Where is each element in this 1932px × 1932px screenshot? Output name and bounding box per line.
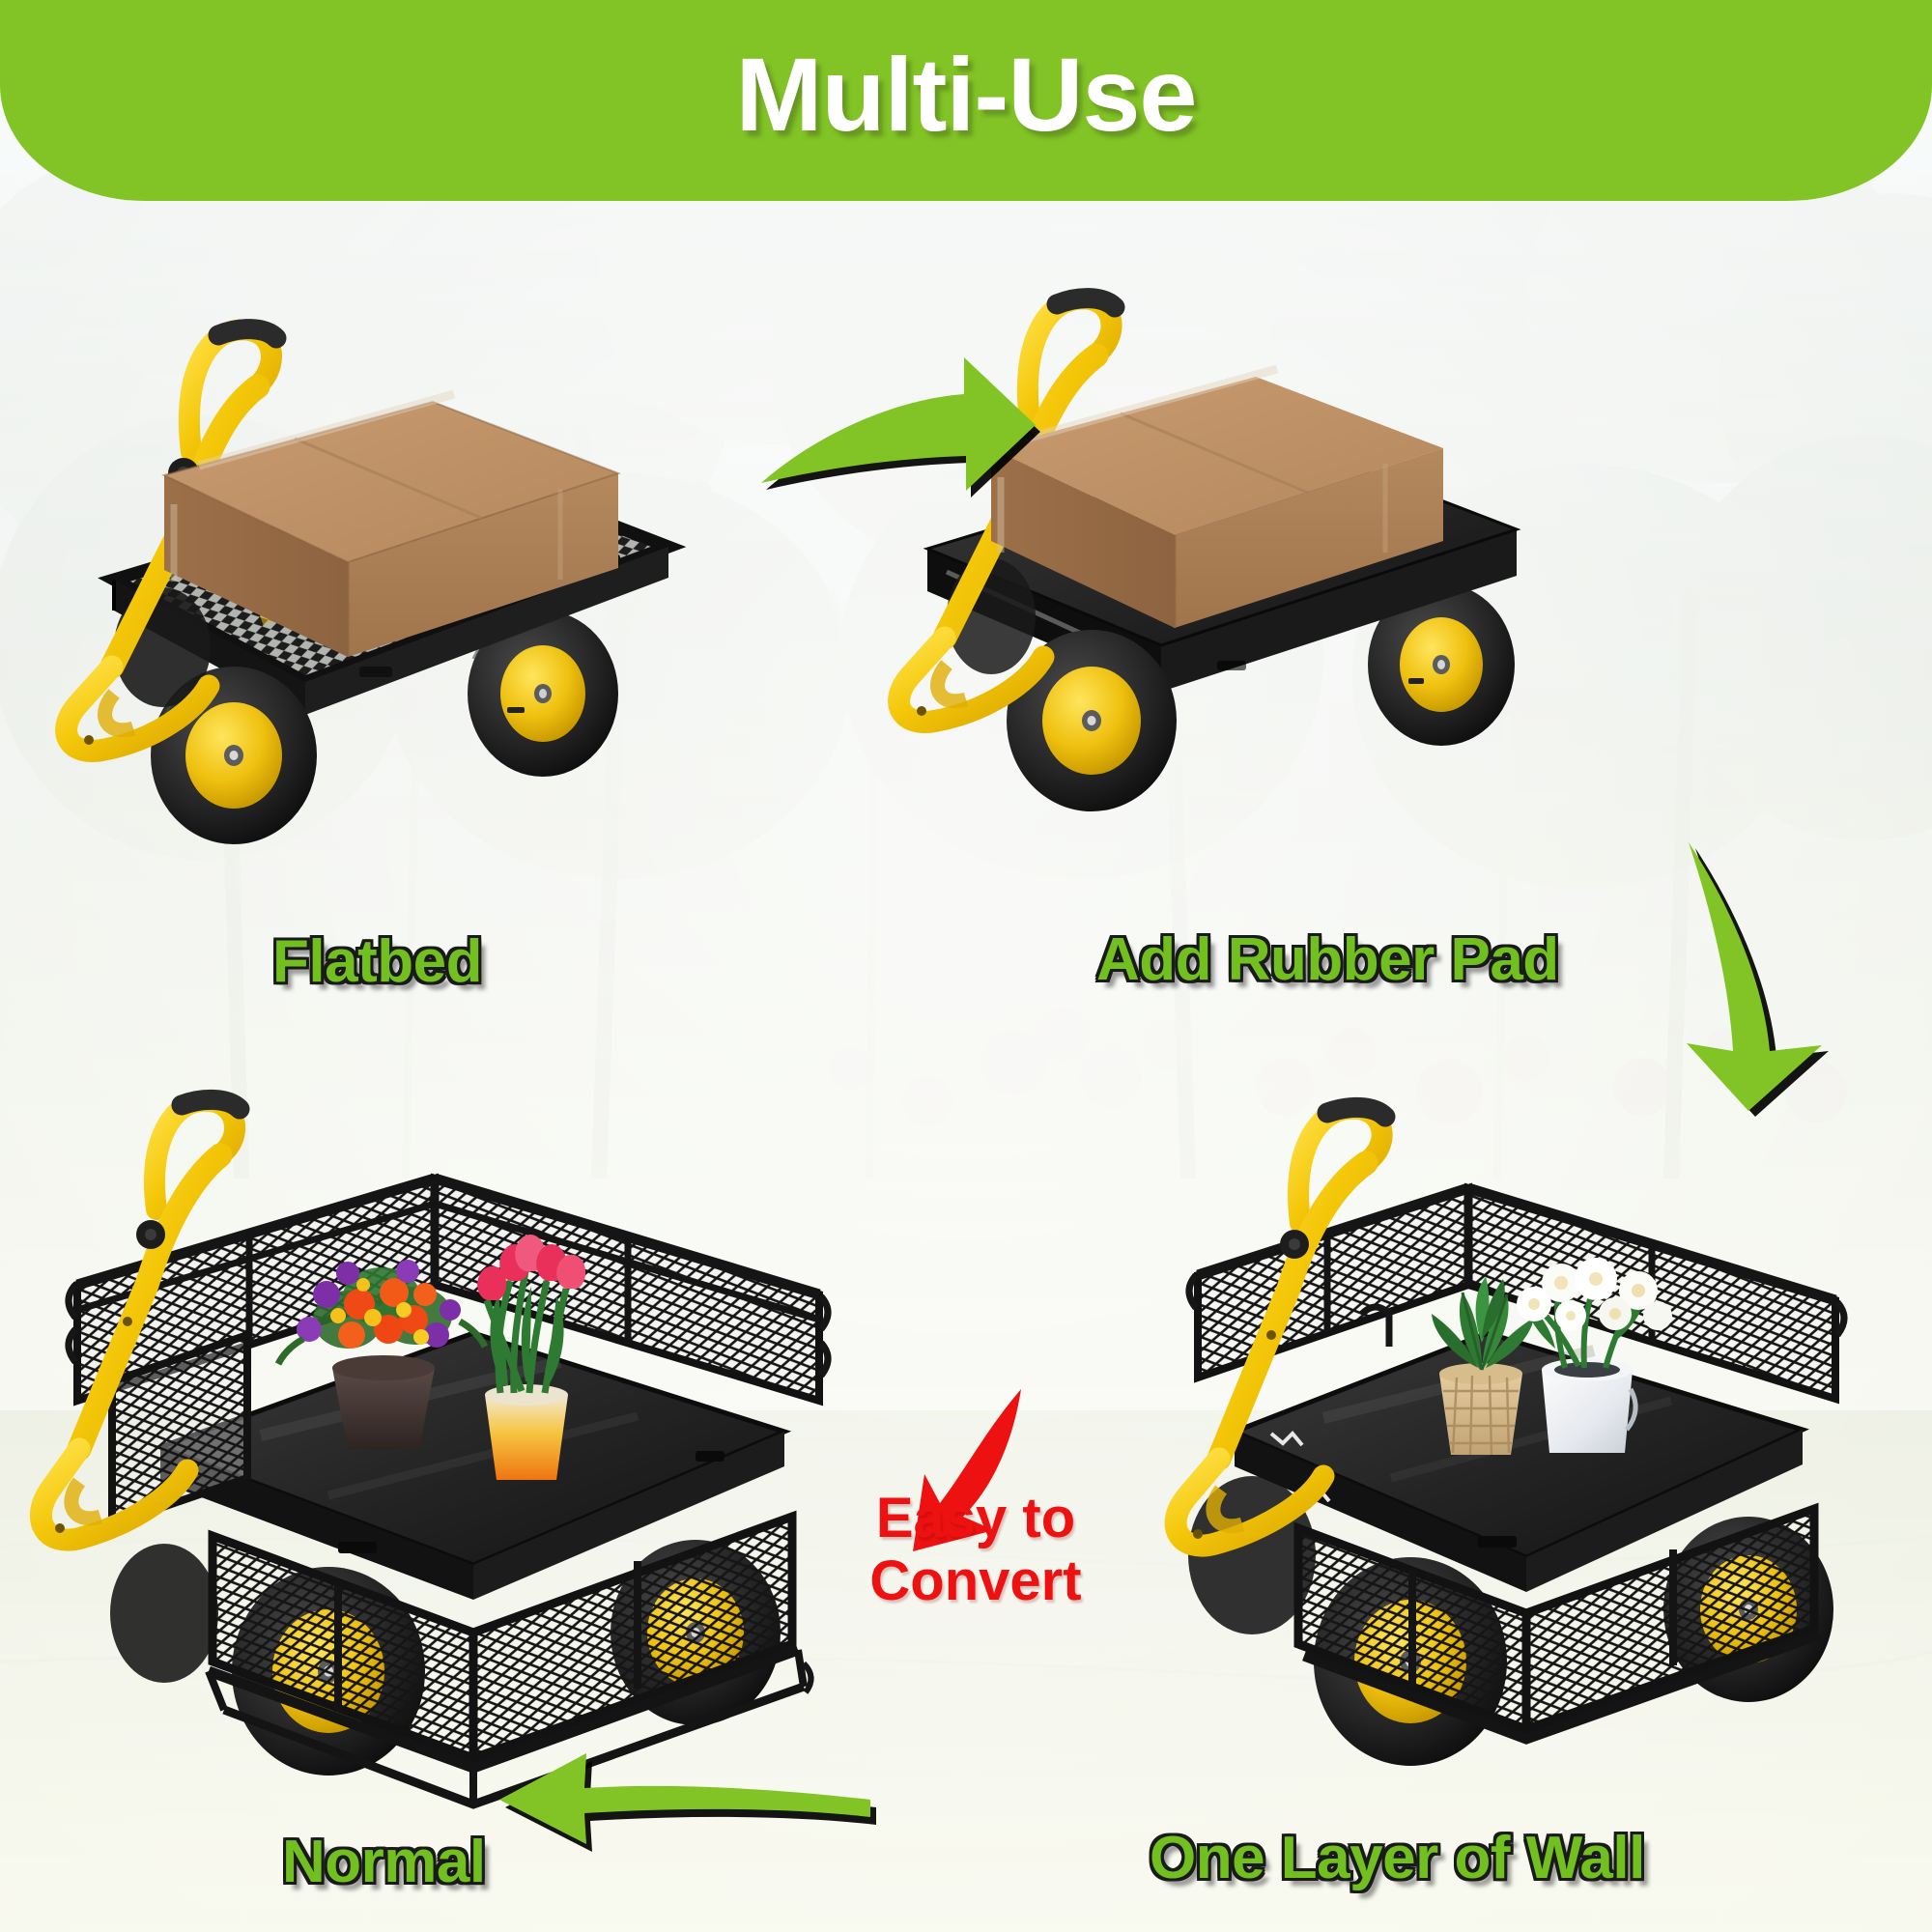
label-flatbed: Flatbed [272, 927, 482, 996]
infographic-canvas: Multi-Use [0, 0, 1932, 1932]
arrow-rubber-pad-to-wall-icon [1633, 821, 1874, 1121]
label-one-layer-of-wall: One Layer of Wall [1150, 1824, 1645, 1892]
page-title: Multi-Use [736, 43, 1197, 147]
cart-rubber-pad [802, 162, 1565, 877]
label-normal: Normal [282, 1828, 486, 1896]
header-banner: Multi-Use [0, 0, 1932, 201]
cart-flatbed [19, 164, 715, 879]
callout-line-1: Easy to [850, 1488, 1101, 1550]
arrow-wall-to-normal-icon [440, 1686, 884, 1879]
callout-line-2: Convert [850, 1550, 1101, 1613]
callout-easy-to-convert: Easy to Convert [850, 1488, 1101, 1613]
label-add-rubber-pad: Add Rubber Pad [1096, 925, 1559, 994]
arrow-flatbed-to-rubber-pad-icon [744, 311, 1072, 504]
